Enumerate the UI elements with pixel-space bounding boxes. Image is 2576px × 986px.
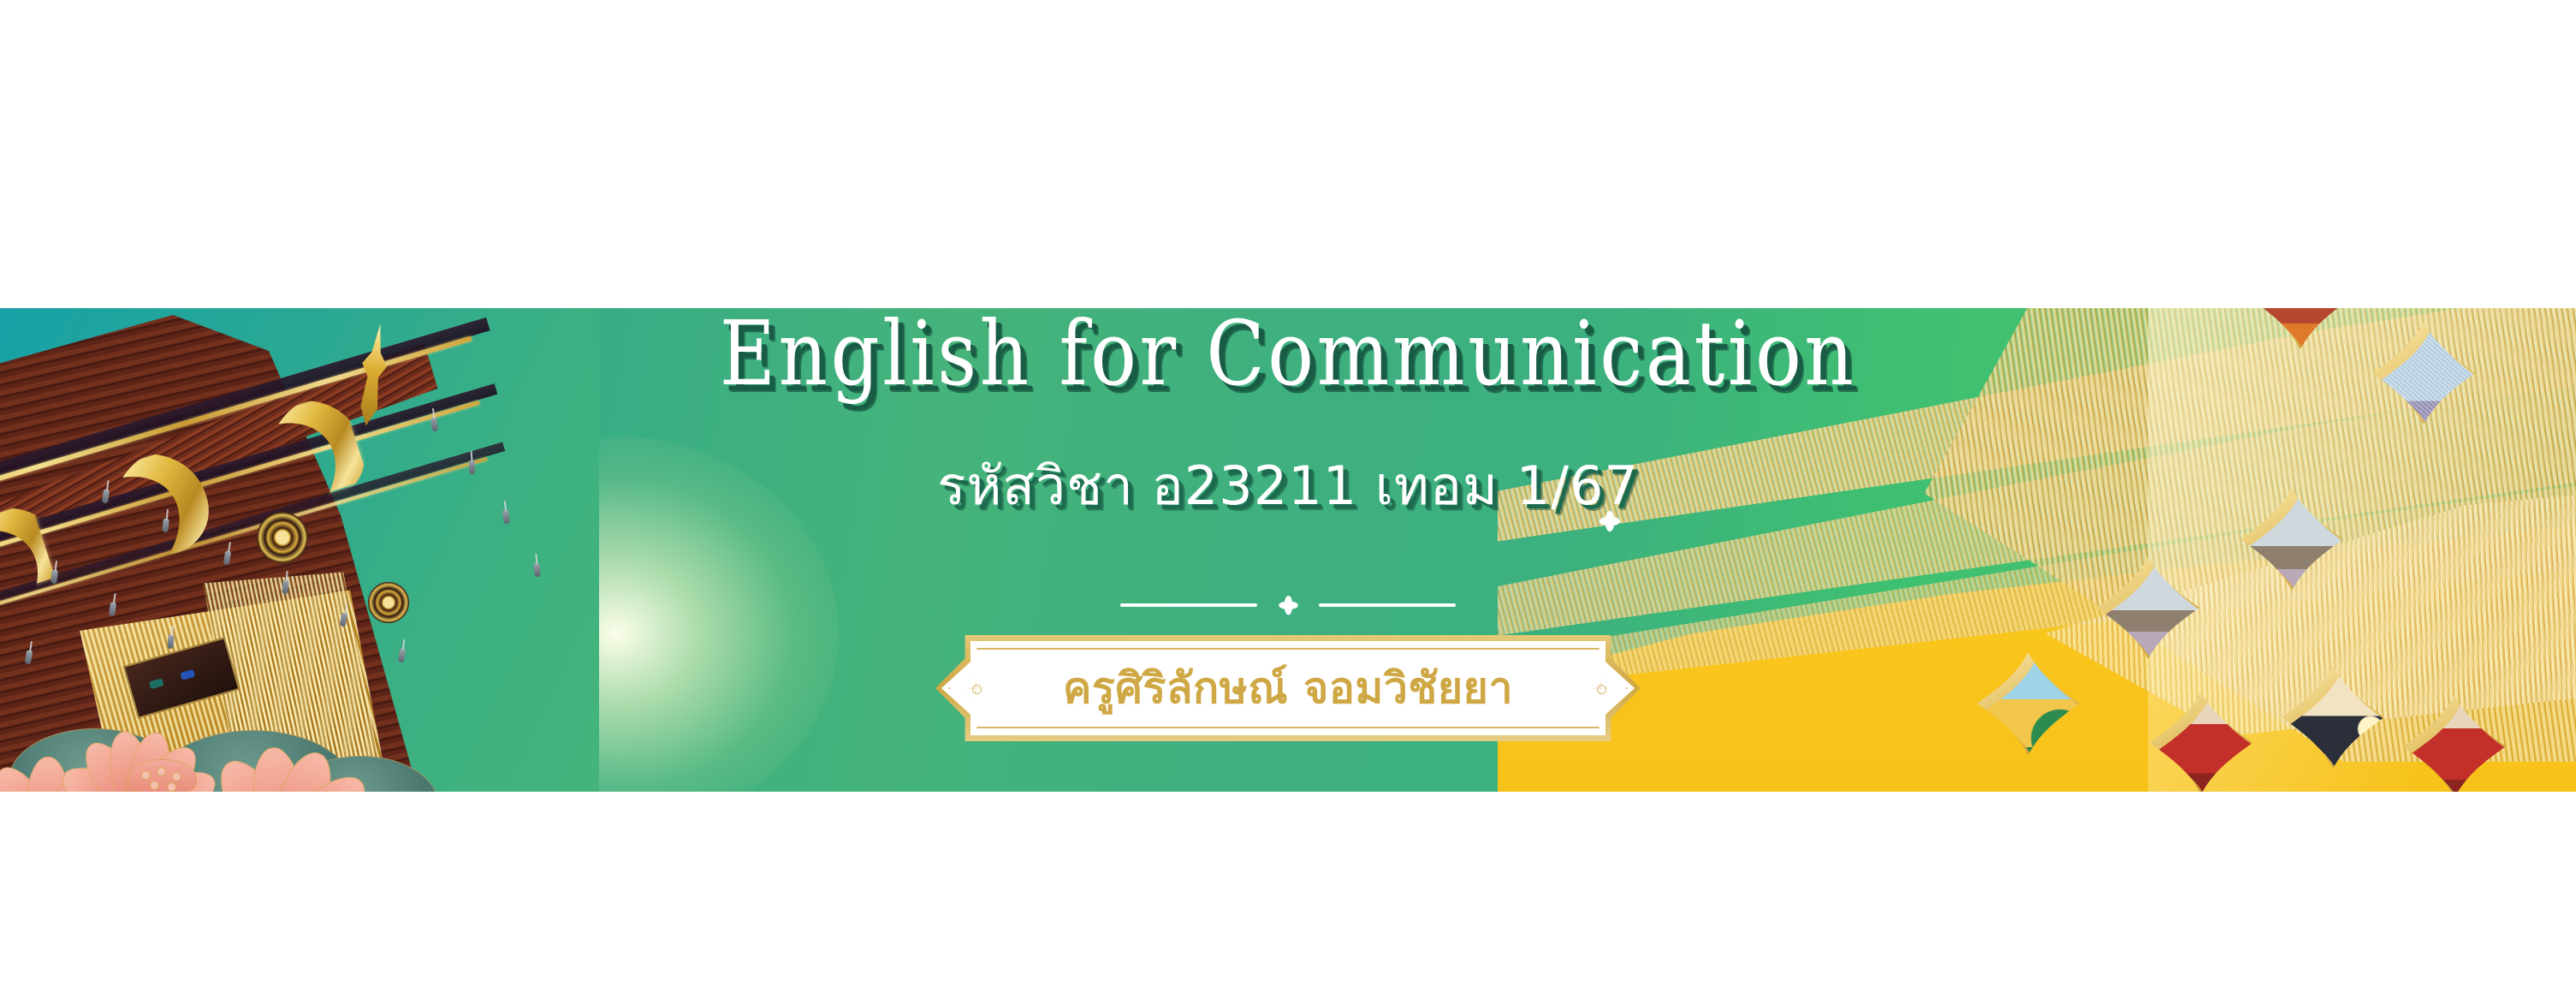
page-title: English for Communication [181,308,2396,407]
course-banner: English for Communication รหัสวิชา อ2321… [0,308,2576,792]
teacher-name-label: ครูศิริลักษณ์ จอมวิชัยยา [935,635,1641,741]
page-bottom-whitespace [0,792,2576,986]
page-root: English for Communication รหัสวิชา อ2321… [0,0,2576,986]
ornamental-divider [0,596,2576,615]
teacher-name-plate: ครูศิริลักษณ์ จอมวิชัยยา [935,635,1641,741]
course-code-subtitle: รหัสวิชา อ23211 เทอม 1/67 [0,457,2576,515]
banner-text-block: English for Communication รหัสวิชา อ2321… [0,308,2576,792]
page-top-whitespace [0,0,2576,308]
four-petal-flower-icon [1276,593,1300,617]
divider-line-left [1120,603,1257,607]
divider-line-right [1319,603,1456,607]
